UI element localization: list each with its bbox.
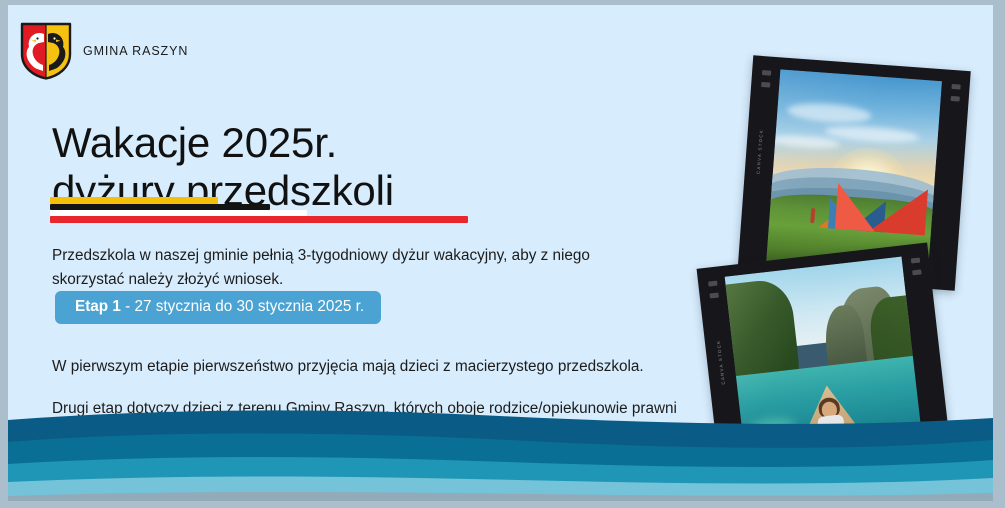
sprocket-hole-icon xyxy=(910,258,920,264)
sprocket-hole-icon xyxy=(761,70,770,76)
status-badge-label: Etap 1 xyxy=(75,298,121,315)
divider xyxy=(50,197,480,221)
sprocket-hole-icon xyxy=(761,82,770,88)
wave-band-4 xyxy=(8,477,993,502)
brand-name: GMINA RASZYN xyxy=(83,44,188,58)
sprocket-hole-icon xyxy=(950,96,959,102)
divider-bar-yellow xyxy=(50,197,218,204)
sprocket-hole-icon xyxy=(912,269,922,275)
brand-header: GMINA RASZYN xyxy=(20,22,188,80)
divider-bar-red xyxy=(50,216,468,223)
sprocket-hole-icon xyxy=(951,84,960,90)
boat-photo-image xyxy=(725,257,924,469)
status-badge: Etap 1 - 27 stycznia do 30 stycznia 2025… xyxy=(55,291,381,324)
sprocket-hole-icon xyxy=(709,293,719,299)
intro-paragraph: Przedszkola w naszej gminie pełnią 3-tyg… xyxy=(52,244,652,291)
stage-two-paragraph: Drugi etap dotyczy dzieci z terenu Gminy… xyxy=(52,397,692,444)
status-badge-separator: - xyxy=(121,298,135,315)
status-badge-dates: 27 stycznia do 30 stycznia 2025 r. xyxy=(135,298,365,315)
boat-photo: CANVA STOCK CANVA STOCK xyxy=(697,243,952,483)
sprocket-hole-icon xyxy=(708,281,718,287)
poster: GMINA RASZYN Wakacje 2025r. dyżury przed… xyxy=(0,0,1005,508)
stage-one-paragraph: W pierwszym etapie pierwszeństwo przyjęc… xyxy=(52,355,712,378)
wave-band-5 xyxy=(8,492,993,501)
raszyn-coat-of-arms-icon xyxy=(20,22,72,80)
poster-canvas: GMINA RASZYN Wakacje 2025r. dyżury przed… xyxy=(8,5,993,501)
